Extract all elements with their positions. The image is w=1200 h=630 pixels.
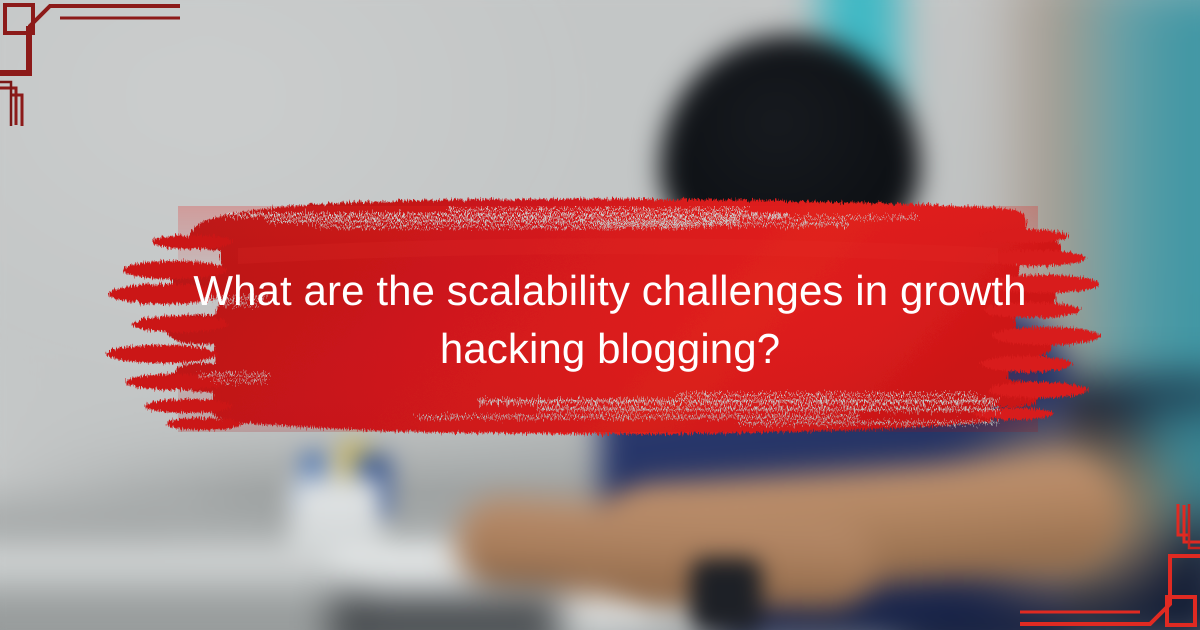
circuit-corner-top-left [0, 0, 180, 160]
photo-desk-shadow [0, 588, 360, 630]
photo-wristwatch [690, 558, 762, 630]
circuit-corner-bottom-right [1020, 470, 1200, 630]
headline: What are the scalability challenges in g… [150, 262, 1070, 378]
social-card: What are the scalability challenges in g… [0, 0, 1200, 630]
photo-dark-object [330, 592, 560, 630]
headline-line-2: hacking blogging? [150, 320, 1070, 378]
headline-line-1: What are the scalability challenges in g… [150, 262, 1070, 320]
